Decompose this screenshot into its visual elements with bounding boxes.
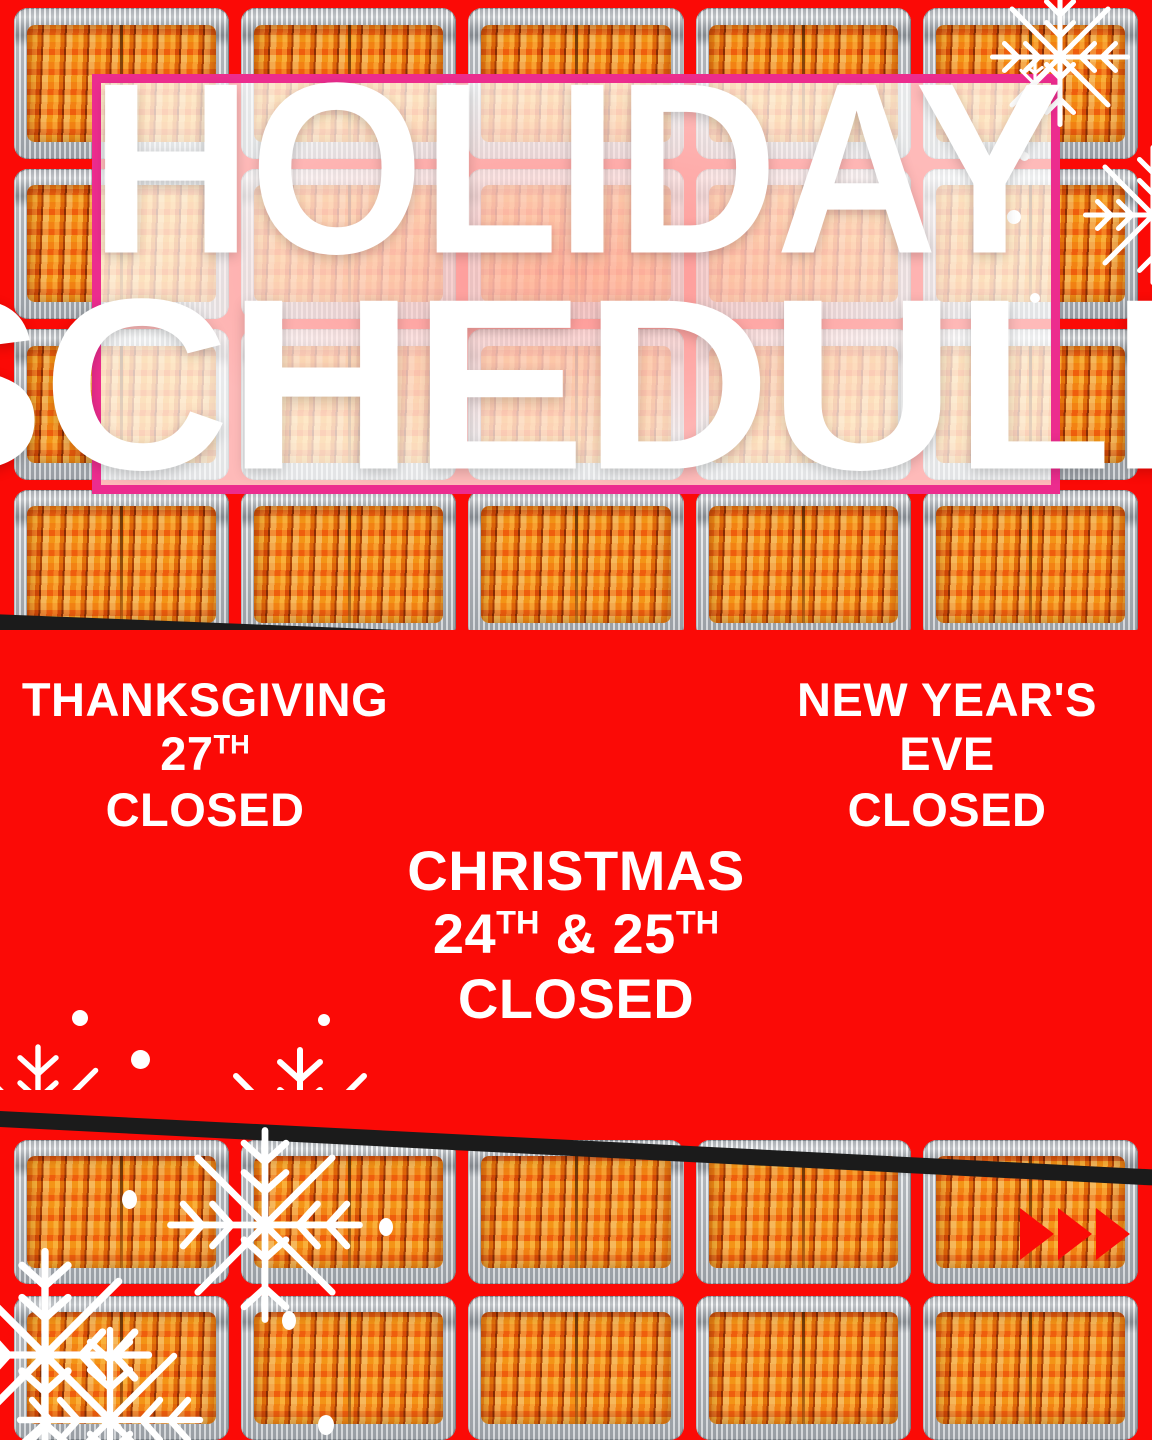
new-years-title-line-1: NEW YEAR'S [742, 676, 1152, 724]
food-tray-icon [696, 169, 911, 320]
top-tray-grid [14, 8, 1138, 640]
christmas-date-separator: & [556, 902, 597, 965]
bottom-tray-grid [14, 1140, 1138, 1440]
food-tray-icon [923, 329, 1138, 480]
christmas-date: 24TH & 25TH [290, 905, 862, 962]
thanksgiving-status: CLOSED [0, 786, 410, 834]
christmas-date-second-number: 25 [613, 902, 676, 965]
christmas-title: CHRISTMAS [290, 842, 862, 899]
food-tray-icon [14, 8, 229, 159]
schedule-block-thanksgiving: THANKSGIVING 27TH CLOSED [0, 676, 410, 834]
thanksgiving-date-number: 27 [160, 727, 213, 780]
food-tray-icon [696, 329, 911, 480]
new-years-title-line-2: EVE [742, 730, 1152, 778]
food-tray-icon [468, 329, 683, 480]
thanksgiving-title: THANKSGIVING [0, 676, 410, 724]
food-tray-icon [468, 1140, 683, 1284]
food-tray-icon [468, 8, 683, 159]
food-tray-icon [241, 490, 456, 641]
food-tray-icon [923, 490, 1138, 641]
food-tray-icon [241, 169, 456, 320]
food-tray-icon [696, 1140, 911, 1284]
food-tray-icon [14, 490, 229, 641]
food-tray-icon [241, 8, 456, 159]
food-tray-icon [696, 490, 911, 641]
holiday-schedule-poster: HOLIDAY SCHEDULE THANKSGIVING 27TH CLOSE… [0, 0, 1152, 1440]
food-tray-icon [923, 8, 1138, 159]
food-tray-icon [14, 1140, 229, 1284]
bottom-food-photo-band [0, 1128, 1152, 1440]
food-tray-icon [468, 490, 683, 641]
food-tray-icon [14, 169, 229, 320]
food-tray-icon [468, 1296, 683, 1440]
food-tray-icon [241, 1140, 456, 1284]
new-years-status: CLOSED [742, 786, 1152, 834]
top-food-photo-band: HOLIDAY SCHEDULE [0, 0, 1152, 640]
food-tray-icon [696, 1296, 911, 1440]
christmas-date-first-number: 24 [433, 902, 496, 965]
food-tray-icon [468, 169, 683, 320]
food-tray-icon [241, 1296, 456, 1440]
fast-forward-triangle-1 [1020, 1208, 1054, 1260]
schedule-block-christmas: CHRISTMAS 24TH & 25TH CLOSED [290, 842, 862, 1027]
food-tray-icon [14, 329, 229, 480]
christmas-date-second-suffix: TH [676, 904, 719, 940]
christmas-date-first-suffix: TH [496, 904, 539, 940]
thanksgiving-date: 27TH [0, 730, 410, 778]
fast-forward-triangle-3 [1096, 1208, 1130, 1260]
food-tray-icon [14, 1296, 229, 1440]
food-tray-icon [241, 329, 456, 480]
thanksgiving-date-suffix: TH [213, 728, 249, 759]
food-tray-icon [923, 1296, 1138, 1440]
schedule-block-new-years-eve: NEW YEAR'S EVE CLOSED [742, 676, 1152, 834]
food-tray-icon [923, 169, 1138, 320]
fast-forward-icon [1020, 1208, 1130, 1260]
food-tray-icon [696, 8, 911, 159]
christmas-status: CLOSED [290, 970, 862, 1027]
fast-forward-triangle-2 [1058, 1208, 1092, 1260]
